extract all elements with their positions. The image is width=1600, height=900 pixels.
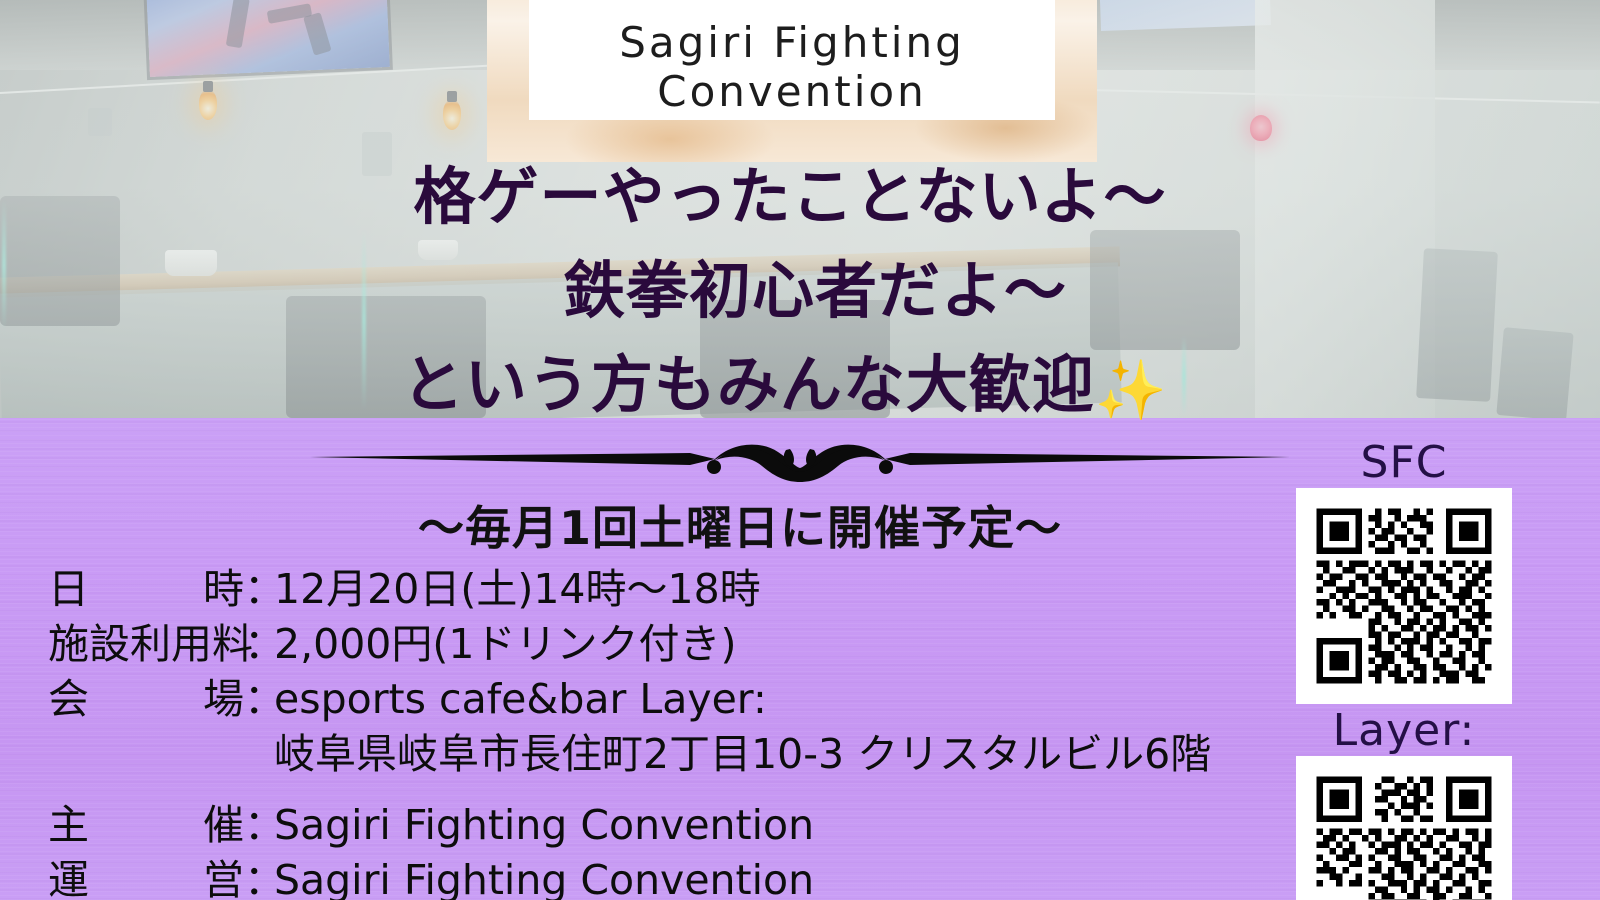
logo-banner-inner: 鉄拳8交流会 Sagiri Fighting Convention	[529, 0, 1055, 120]
detail-label-organizer: 主催	[48, 798, 244, 853]
qr-code-layer[interactable]	[1296, 756, 1512, 900]
detail-colon: ：	[244, 853, 274, 900]
detail-value-operator: Sagiri Fighting Convention	[274, 853, 814, 900]
detail-row-date: 日時 ： 12月20日(土)14時〜18時	[48, 562, 1211, 617]
headline-line-1: 格ゲーやったことないよ〜	[0, 150, 1600, 244]
detail-label-fee: 施設利用料	[48, 617, 244, 672]
qr-code-sfc[interactable]	[1296, 488, 1512, 704]
detail-value-venue: esports cafe&bar Layer:	[274, 672, 767, 727]
photo-hanging-bulb	[199, 90, 217, 120]
detail-row-fee: 施設利用料 ： 2,000円(1ドリンク付き)	[48, 617, 1211, 672]
photo-tv-fighting-game	[146, 0, 390, 77]
logo-title-en: Sagiri Fighting Convention	[529, 18, 1055, 116]
detail-row-organizer: 主催 ： Sagiri Fighting Convention	[48, 798, 1211, 853]
photo-hanging-bulb	[443, 100, 461, 130]
headline-block: 格ゲーやったことないよ〜 鉄拳初心者だよ〜 という方もみんな大歓迎✨	[0, 150, 1600, 437]
photo-pink-light	[1250, 115, 1272, 141]
detail-label-operator: 運営	[48, 853, 244, 900]
qr-label-layer: Layer:	[1296, 706, 1512, 756]
logo-banner: 鉄拳8交流会 Sagiri Fighting Convention	[487, 0, 1097, 162]
detail-value-date: 12月20日(土)14時〜18時	[274, 562, 761, 617]
detail-row-venue: 会場 ： esports cafe&bar Layer:	[48, 672, 1211, 727]
qr-sfc-icon	[1310, 502, 1498, 690]
detail-label-venue: 会場	[48, 672, 244, 727]
poster-root: 鉄拳8交流会 Sagiri Fighting Convention 格ゲーやった…	[0, 0, 1600, 900]
qr-label-sfc: SFC	[1296, 438, 1512, 488]
headline-line-2: 鉄拳初心者だよ〜	[0, 244, 1600, 338]
detail-value-address: 岐阜県岐阜市長住町2丁目10-3 クリスタルビル6階	[274, 727, 1211, 782]
detail-row-operator: 運営 ： Sagiri Fighting Convention	[48, 853, 1211, 900]
event-details-block: 日時 ： 12月20日(土)14時〜18時 施設利用料 ： 2,000円(1ドリ…	[48, 562, 1211, 900]
sparkles-icon: ✨	[1095, 343, 1168, 437]
detail-colon: ：	[244, 798, 274, 853]
qr-block-layer[interactable]: Layer:	[1296, 706, 1512, 900]
detail-colon: ：	[244, 672, 274, 727]
detail-row-address: 岐阜県岐阜市長住町2丁目10-3 クリスタルビル6階	[48, 727, 1211, 782]
detail-value-fee: 2,000円(1ドリンク付き)	[274, 617, 736, 672]
qr-block-sfc[interactable]: SFC	[1296, 438, 1512, 704]
detail-colon: ：	[244, 562, 274, 617]
detail-value-organizer: Sagiri Fighting Convention	[274, 798, 814, 853]
detail-label-date: 日時	[48, 562, 244, 617]
detail-colon: ：	[244, 617, 274, 672]
headline-line-3: という方もみんな大歓迎✨	[0, 338, 1600, 437]
qr-layer-icon	[1310, 770, 1498, 900]
detail-spacer	[48, 782, 1211, 798]
headline-line-3-text: という方もみんな大歓迎	[402, 348, 1095, 421]
photo-wall-panel	[88, 108, 112, 136]
